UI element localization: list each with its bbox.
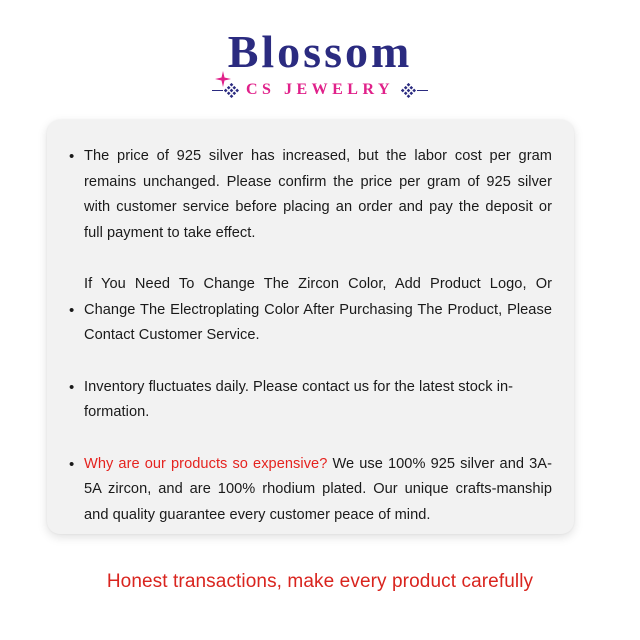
bullet-marker: • (69, 144, 84, 170)
brand-subtitle-text: CS JEWELRY (246, 81, 394, 99)
bullet-marker: • (69, 303, 84, 318)
list-item: • The price of 925 silver has increased,… (69, 144, 552, 246)
list-item: • Why are our products so expensive? We … (69, 452, 552, 529)
diamond-ornament-icon-right (401, 83, 428, 98)
price-notice-text: The price of 925 silver has increased, b… (84, 144, 552, 246)
brand-name-text: Blossom (228, 26, 413, 77)
ornament-dash-right (417, 90, 428, 92)
bullet-marker: • (69, 375, 84, 401)
ornament-diamond-right (401, 83, 416, 98)
pricing-question: Why are our products so expensive? (84, 456, 327, 472)
footer-tagline: Honest transactions, make every product … (0, 571, 640, 593)
pricing-explanation-text: Why are our products so expensive? We us… (84, 452, 552, 529)
inventory-notice-text: Inventory fluctuates daily. Please conta… (84, 375, 552, 426)
brand-header: Blossom (0, 28, 640, 99)
notice-card: • The price of 925 silver has increased,… (47, 120, 574, 534)
ornament-dash-left (212, 90, 223, 92)
list-item: • If You Need To Change The Zircon Color… (69, 272, 552, 349)
bullet-marker: • (69, 452, 84, 478)
brand-name: Blossom (228, 28, 413, 76)
ornament-diamond-left (224, 83, 239, 98)
list-item: • Inventory fluctuates daily. Please con… (69, 375, 552, 426)
notice-list: • The price of 925 silver has increased,… (69, 144, 552, 528)
customization-notice-text: If You Need To Change The Zircon Color, … (84, 272, 552, 349)
diamond-ornament-icon-left (212, 83, 239, 98)
brand-subtitle: CS JEWELRY (0, 81, 640, 99)
